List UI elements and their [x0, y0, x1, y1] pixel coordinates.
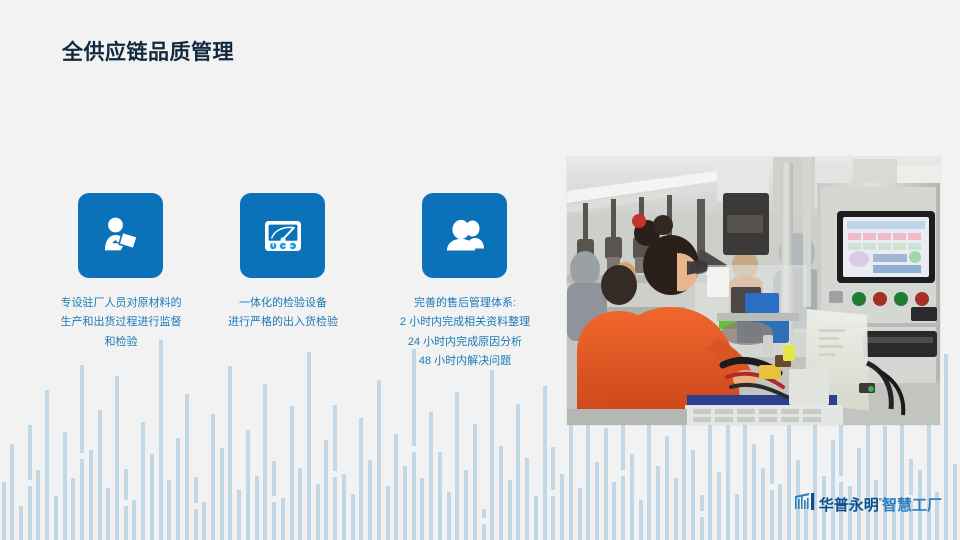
background-bar: [708, 408, 712, 540]
background-bar: [691, 450, 695, 540]
photo-illustration: [567, 157, 940, 425]
background-bar: [735, 494, 739, 540]
caption-line: 进行严格的出入货检验: [193, 313, 373, 332]
background-bar: [132, 500, 136, 540]
icon-container: [78, 193, 163, 278]
background-bar: [831, 440, 835, 540]
background-bar: [159, 340, 163, 540]
huapu-logo-mark-icon: [795, 493, 815, 516]
background-bar: [202, 502, 206, 540]
feature-item-testing-equipment: 一体化的检验设备 进行严格的出入货检验: [240, 193, 325, 333]
background-bar: [429, 412, 433, 540]
page-title: 全供应链品质管理: [62, 36, 234, 66]
gauge-meter-icon: [259, 212, 307, 260]
background-bar: [403, 466, 407, 540]
background-bar: [700, 490, 704, 540]
background-bar: [298, 468, 302, 540]
background-bar: [228, 366, 232, 540]
feature-caption: 一体化的检验设备 进行严格的出入货检验: [193, 294, 373, 333]
background-bar: [167, 480, 171, 540]
background-bar: [473, 424, 477, 540]
logo-product-name: 智慧工厂: [882, 497, 942, 514]
background-bar: [185, 394, 189, 540]
background-bar: [386, 486, 390, 540]
two-users-icon: [441, 212, 489, 260]
background-bar: [368, 460, 372, 540]
background-bar: [656, 466, 660, 540]
background-bar: [927, 420, 931, 540]
background-bar: [752, 444, 756, 540]
background-bar-gap: [124, 500, 128, 506]
background-bar: [560, 474, 564, 540]
background-bar: [36, 470, 40, 540]
background-bar: [569, 416, 573, 540]
feature-caption: 专设驻厂人员对原材料的 生产和出货过程进行监督 和检验: [21, 294, 221, 352]
background-bar-gap: [482, 518, 486, 524]
background-bar: [98, 410, 102, 540]
background-bar: [770, 430, 774, 540]
background-bar: [551, 442, 555, 540]
background-bar: [508, 480, 512, 540]
background-bar: [194, 472, 198, 540]
caption-line: 完善的售后管理体系:: [365, 294, 565, 313]
background-bar: [953, 464, 957, 540]
background-bar: [307, 352, 311, 540]
factory-production-line-photo: [567, 157, 940, 425]
icon-container: [240, 193, 325, 278]
background-bar: [63, 432, 67, 540]
caption-line: 生产和出货过程进行监督: [21, 313, 221, 332]
background-bar-gap: [700, 511, 704, 517]
caption-line: 24 小时内完成原因分析: [365, 333, 565, 352]
background-bar: [464, 470, 468, 540]
background-bar: [290, 406, 294, 540]
background-bar: [534, 496, 538, 540]
background-bar: [150, 454, 154, 540]
background-bar: [255, 476, 259, 540]
background-bar-gap: [28, 480, 32, 486]
background-bar: [351, 494, 355, 540]
background-bar: [80, 360, 84, 540]
background-bar: [237, 490, 241, 540]
background-bar: [674, 478, 678, 540]
background-bar: [45, 390, 49, 540]
background-bar: [272, 456, 276, 540]
background-bar: [394, 434, 398, 540]
background-bar: [665, 436, 669, 540]
feature-item-inspection: 专设驻厂人员对原材料的 生产和出货过程进行监督 和检验: [78, 193, 163, 352]
background-bar-gap: [412, 446, 416, 452]
background-bar: [377, 380, 381, 540]
logo-wordmark: 华普永明°智慧工厂: [819, 494, 942, 515]
background-bar: [525, 458, 529, 540]
background-bar: [944, 354, 948, 540]
background-bar: [717, 472, 721, 540]
background-bar: [19, 506, 23, 540]
background-bar: [124, 464, 128, 540]
background-bar-gap: [551, 490, 555, 496]
icon-container: [422, 193, 507, 278]
background-bar: [412, 344, 416, 540]
background-bar: [604, 428, 608, 540]
background-bar: [595, 462, 599, 540]
background-bar: [778, 484, 782, 540]
background-bar: [438, 452, 442, 540]
brand-logo: 华普永明°智慧工厂: [795, 493, 942, 516]
background-bar: [630, 454, 634, 540]
background-bar-gap: [333, 471, 337, 477]
background-bar: [89, 450, 93, 540]
background-bar: [578, 488, 582, 540]
background-bar-gap: [272, 496, 276, 502]
background-bar: [246, 430, 250, 540]
background-bar: [726, 422, 730, 540]
background-bar-gap: [770, 484, 774, 490]
background-bar: [10, 444, 14, 540]
logo-brand-name: 华普永明: [819, 497, 879, 514]
background-bar: [106, 488, 110, 540]
background-bar: [211, 414, 215, 540]
background-bar: [141, 422, 145, 540]
caption-line: 2 小时内完成相关资料整理: [365, 313, 565, 332]
background-bar: [516, 404, 520, 540]
background-bar: [420, 478, 424, 540]
slide-canvas: 全供应链品质管理 专设驻厂人员对原材料的 生产和出货过程进行监督 和检验: [0, 0, 960, 540]
background-bar-gap: [80, 453, 84, 459]
background-bar: [2, 482, 6, 540]
background-bar: [333, 400, 337, 540]
caption-line: 48 小时内解决问题: [365, 352, 565, 371]
background-bar-gap: [194, 503, 198, 509]
background-bar: [324, 440, 328, 540]
background-bar: [342, 474, 346, 540]
background-bar: [316, 484, 320, 540]
background-bar: [612, 482, 616, 540]
background-bar: [54, 496, 58, 540]
background-bar: [281, 498, 285, 540]
background-bar: [115, 376, 119, 540]
background-bar-gap: [839, 476, 843, 482]
caption-line: 和检验: [21, 333, 221, 352]
feature-item-after-sales: 完善的售后管理体系: 2 小时内完成相关资料整理 24 小时内完成原因分析 48…: [422, 193, 507, 371]
caption-line: 专设驻厂人员对原材料的: [21, 294, 221, 313]
background-bar: [543, 386, 547, 540]
background-bar: [839, 412, 843, 540]
background-bar: [761, 468, 765, 540]
feature-caption: 完善的售后管理体系: 2 小时内完成相关资料整理 24 小时内完成原因分析 48…: [365, 294, 565, 371]
caption-line: 一体化的检验设备: [193, 294, 373, 313]
background-bar: [639, 500, 643, 540]
background-bar: [220, 448, 224, 540]
background-bar: [176, 438, 180, 540]
background-bar: [71, 478, 75, 540]
background-bar: [499, 446, 503, 540]
person-with-clipboard-icon: [97, 212, 145, 260]
background-bar-gap: [621, 470, 625, 476]
background-bar: [883, 426, 887, 540]
background-bar: [447, 492, 451, 540]
background-bar: [359, 418, 363, 540]
background-bar: [28, 420, 32, 540]
background-bar: [482, 504, 486, 540]
background-bar: [490, 370, 494, 540]
background-bar: [455, 392, 459, 540]
background-bar: [263, 384, 267, 540]
